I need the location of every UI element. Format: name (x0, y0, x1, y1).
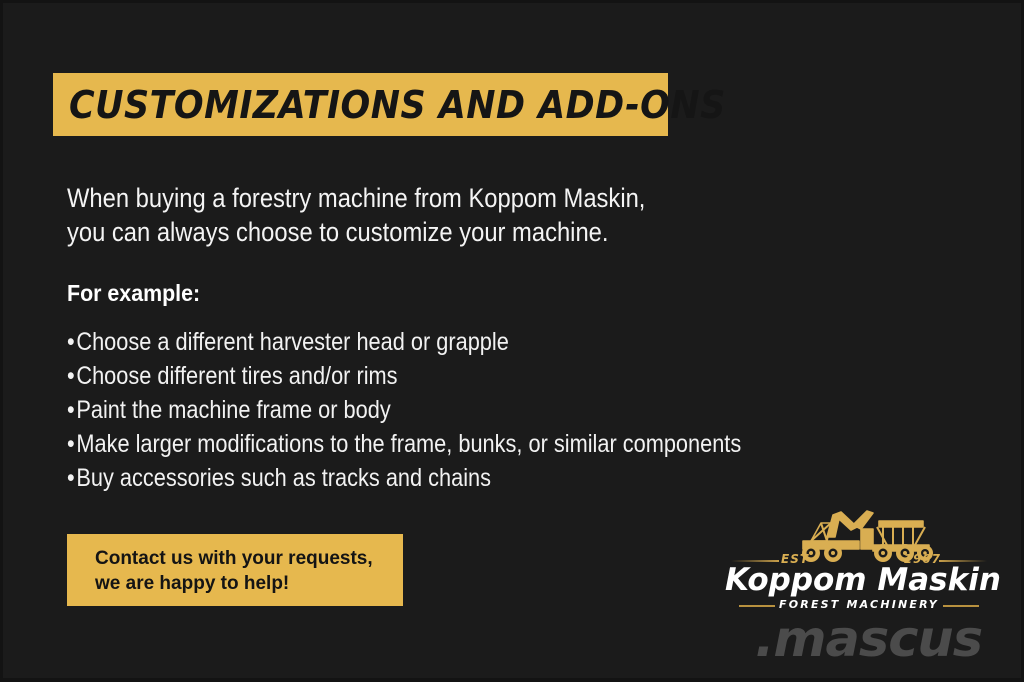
list-item-label: Make larger modifications to the frame, … (76, 430, 741, 458)
customization-options-list: •Choose a different harvester head or gr… (67, 325, 827, 495)
intro-line-2: you can always choose to customize your … (67, 215, 683, 249)
bullet-dot-icon: • (67, 393, 75, 427)
list-item: •Buy accessories such as tracks and chai… (67, 461, 728, 495)
list-item-label: Choose different tires and/or rims (76, 362, 397, 390)
cta-line-1: Contact us with your requests, (95, 546, 403, 571)
title-banner: CUSTOMIZATIONS AND ADD-ONS (53, 73, 668, 136)
bullet-dot-icon: • (67, 359, 75, 393)
bullet-dot-icon: • (67, 427, 75, 461)
list-item: •Choose a different harvester head or gr… (67, 325, 728, 359)
intro-line-1: When buying a forestry machine from Kopp… (67, 181, 683, 215)
koppom-maskin-logo: EST 1967 Koppom Maskin FOREST MACHINERY (725, 503, 993, 615)
list-item: •Paint the machine frame or body (67, 393, 728, 427)
intro-paragraph: When buying a forestry machine from Kopp… (67, 181, 683, 249)
bullet-dot-icon: • (67, 461, 75, 495)
cta-line-2: we are happy to help! (95, 571, 403, 596)
logo-wordmark: Koppom Maskin (725, 563, 993, 597)
list-item: •Make larger modifications to the frame,… (67, 427, 728, 461)
page-title: CUSTOMIZATIONS AND ADD-ONS (69, 86, 726, 124)
list-item-label: Buy accessories such as tracks and chain… (76, 464, 491, 492)
list-item: •Choose different tires and/or rims (67, 359, 728, 393)
contact-cta-box[interactable]: Contact us with your requests, we are ha… (67, 534, 403, 606)
list-item-label: Paint the machine frame or body (76, 396, 390, 424)
mascus-watermark: .mascus (755, 611, 982, 667)
for-example-label: For example: (67, 279, 200, 307)
bullet-dot-icon: • (67, 325, 75, 359)
slide-canvas: CUSTOMIZATIONS AND ADD-ONS When buying a… (0, 0, 1024, 682)
list-item-label: Choose a different harvester head or gra… (76, 328, 508, 356)
